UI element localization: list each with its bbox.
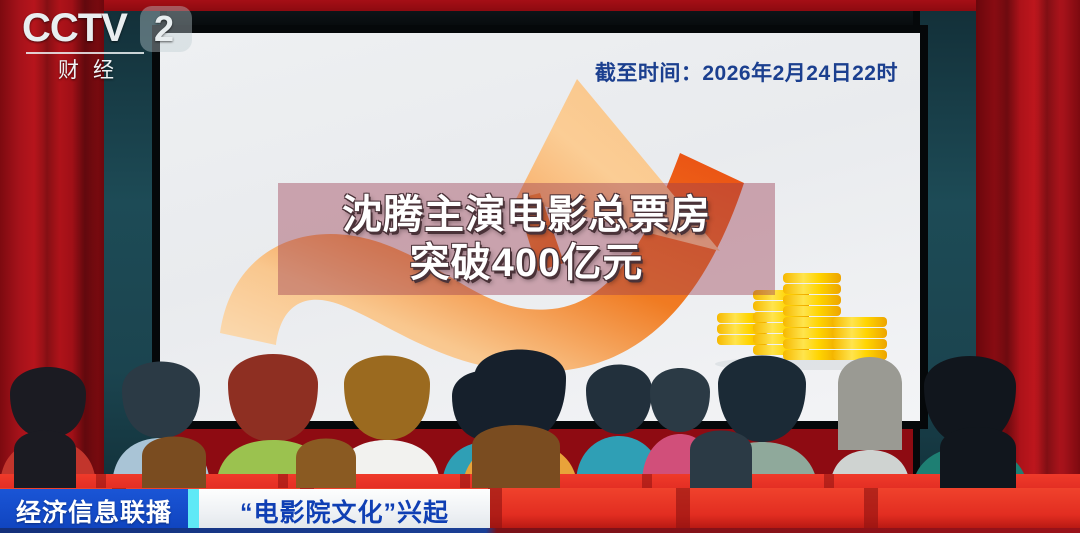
headline-line-1: 沈腾主演电影总票房 [342,194,711,236]
story-headline-label: “电影院文化”兴起 [240,493,449,529]
story-headline-box: “电影院文化”兴起 [199,489,490,533]
lower-third-bar: 经济信息联播 “电影院文化”兴起 [0,489,490,533]
broadcast-frame: 沈腾主演电影总票房 突破400亿元 截至时间：2026年2月24日22时 [0,0,1080,533]
program-name-box: 经济信息联播 [0,489,188,533]
headline-block: 沈腾主演电影总票房 突破400亿元 [278,183,775,295]
ticker-baseline [0,528,1080,533]
headline-line-2: 突破400亿元 [410,242,644,284]
network-wordmark: CCTV [22,6,127,51]
timestamp-label: 截至时间：2026年2月24日22时 [595,57,898,87]
cctv-logo-icon: CCTV 2 财经 [22,4,194,82]
channel-number: 2 [154,8,174,50]
ticker-divider [188,489,199,533]
channel-name: 财经 [58,54,128,84]
program-name-label: 经济信息联播 [16,493,172,529]
